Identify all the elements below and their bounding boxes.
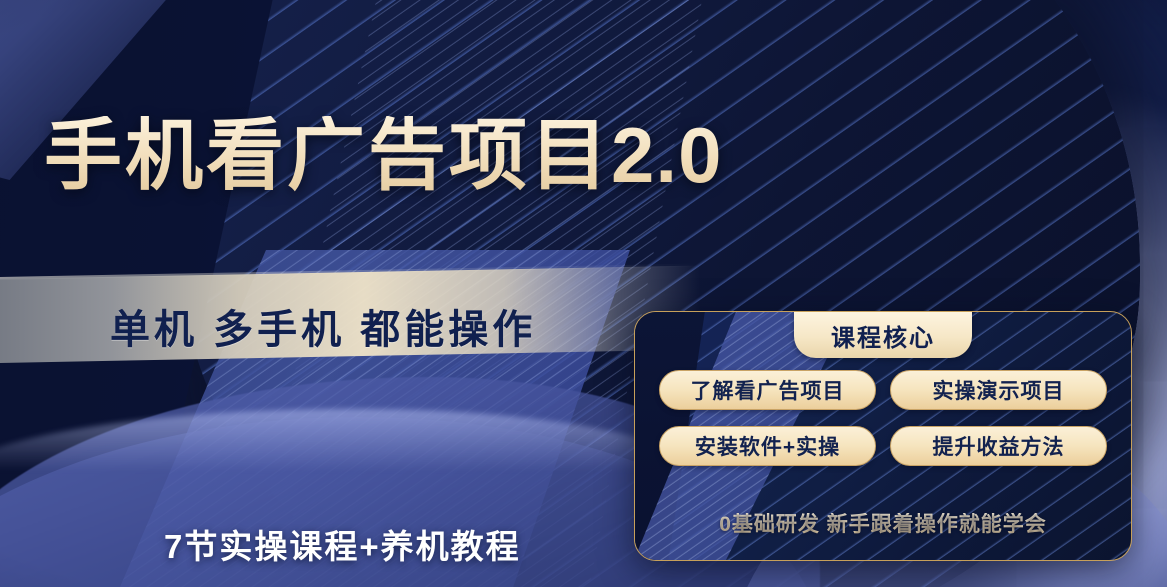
feature-pill[interactable]: 了解看广告项目 xyxy=(659,370,876,410)
page-subtitle: 单机 多手机 都能操作 xyxy=(110,297,536,355)
card-banner-label: 课程核心 xyxy=(831,318,935,353)
feature-pill[interactable]: 提升收益方法 xyxy=(890,426,1107,466)
feature-pill-label: 提升收益方法 xyxy=(933,431,1065,461)
feature-pill[interactable]: 安装软件+实操 xyxy=(659,426,876,466)
feature-pill-label: 了解看广告项目 xyxy=(691,375,845,405)
card-footer: 0基础研发 新手跟着操作就能学会 xyxy=(635,508,1131,538)
course-count-note: 7节实操课程+养机教程 xyxy=(164,520,521,568)
course-core-card: 课程核心 了解看广告项目 实操演示项目 安装软件+实操 提升收益方法 0基础研发… xyxy=(634,311,1132,561)
promo-poster: 手机看广告项目2.0 单机 多手机 都能操作 7节实操课程+养机教程 课程核心 … xyxy=(0,0,1167,587)
feature-pill[interactable]: 实操演示项目 xyxy=(890,370,1107,410)
card-footer-label: 0基础研发 新手跟着操作就能学会 xyxy=(719,513,1047,536)
page-title-version: 2.0 xyxy=(611,111,722,199)
feature-pill-label: 实操演示项目 xyxy=(933,375,1065,405)
feature-pill-label: 安装软件+实操 xyxy=(695,431,840,461)
page-title: 手机看广告项目2.0 xyxy=(44,116,722,194)
card-feature-list: 了解看广告项目 实操演示项目 安装软件+实操 提升收益方法 xyxy=(635,370,1131,466)
card-banner: 课程核心 xyxy=(794,312,972,358)
page-title-main: 手机看广告项目 xyxy=(44,111,611,199)
